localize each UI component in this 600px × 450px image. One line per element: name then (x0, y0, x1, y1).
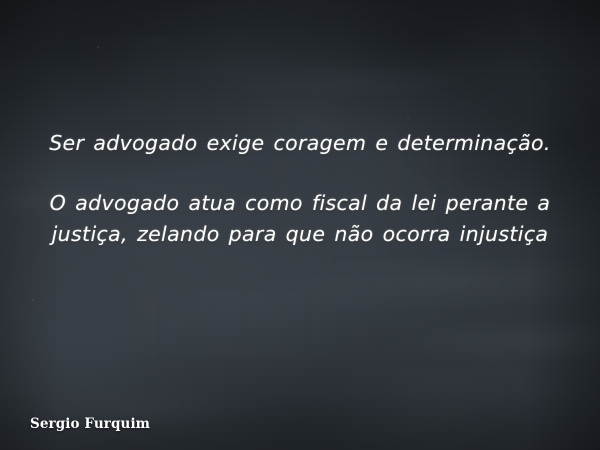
author-signature: Sergio Furquim (30, 416, 150, 432)
quote-text-block: Ser advogado exige coragem e determinaçã… (0, 128, 600, 250)
quote-paragraph-gap (26, 159, 574, 188)
quote-line-2: O advogado atua como fiscal da lei peran… (26, 188, 574, 219)
chalkboard-quote-card: Ser advogado exige coragem e determinaçã… (0, 0, 600, 450)
quote-line-1: Ser advogado exige coragem e determinaçã… (26, 128, 574, 159)
quote-line-3: justiça, zelando para que não ocorra inj… (26, 219, 574, 250)
